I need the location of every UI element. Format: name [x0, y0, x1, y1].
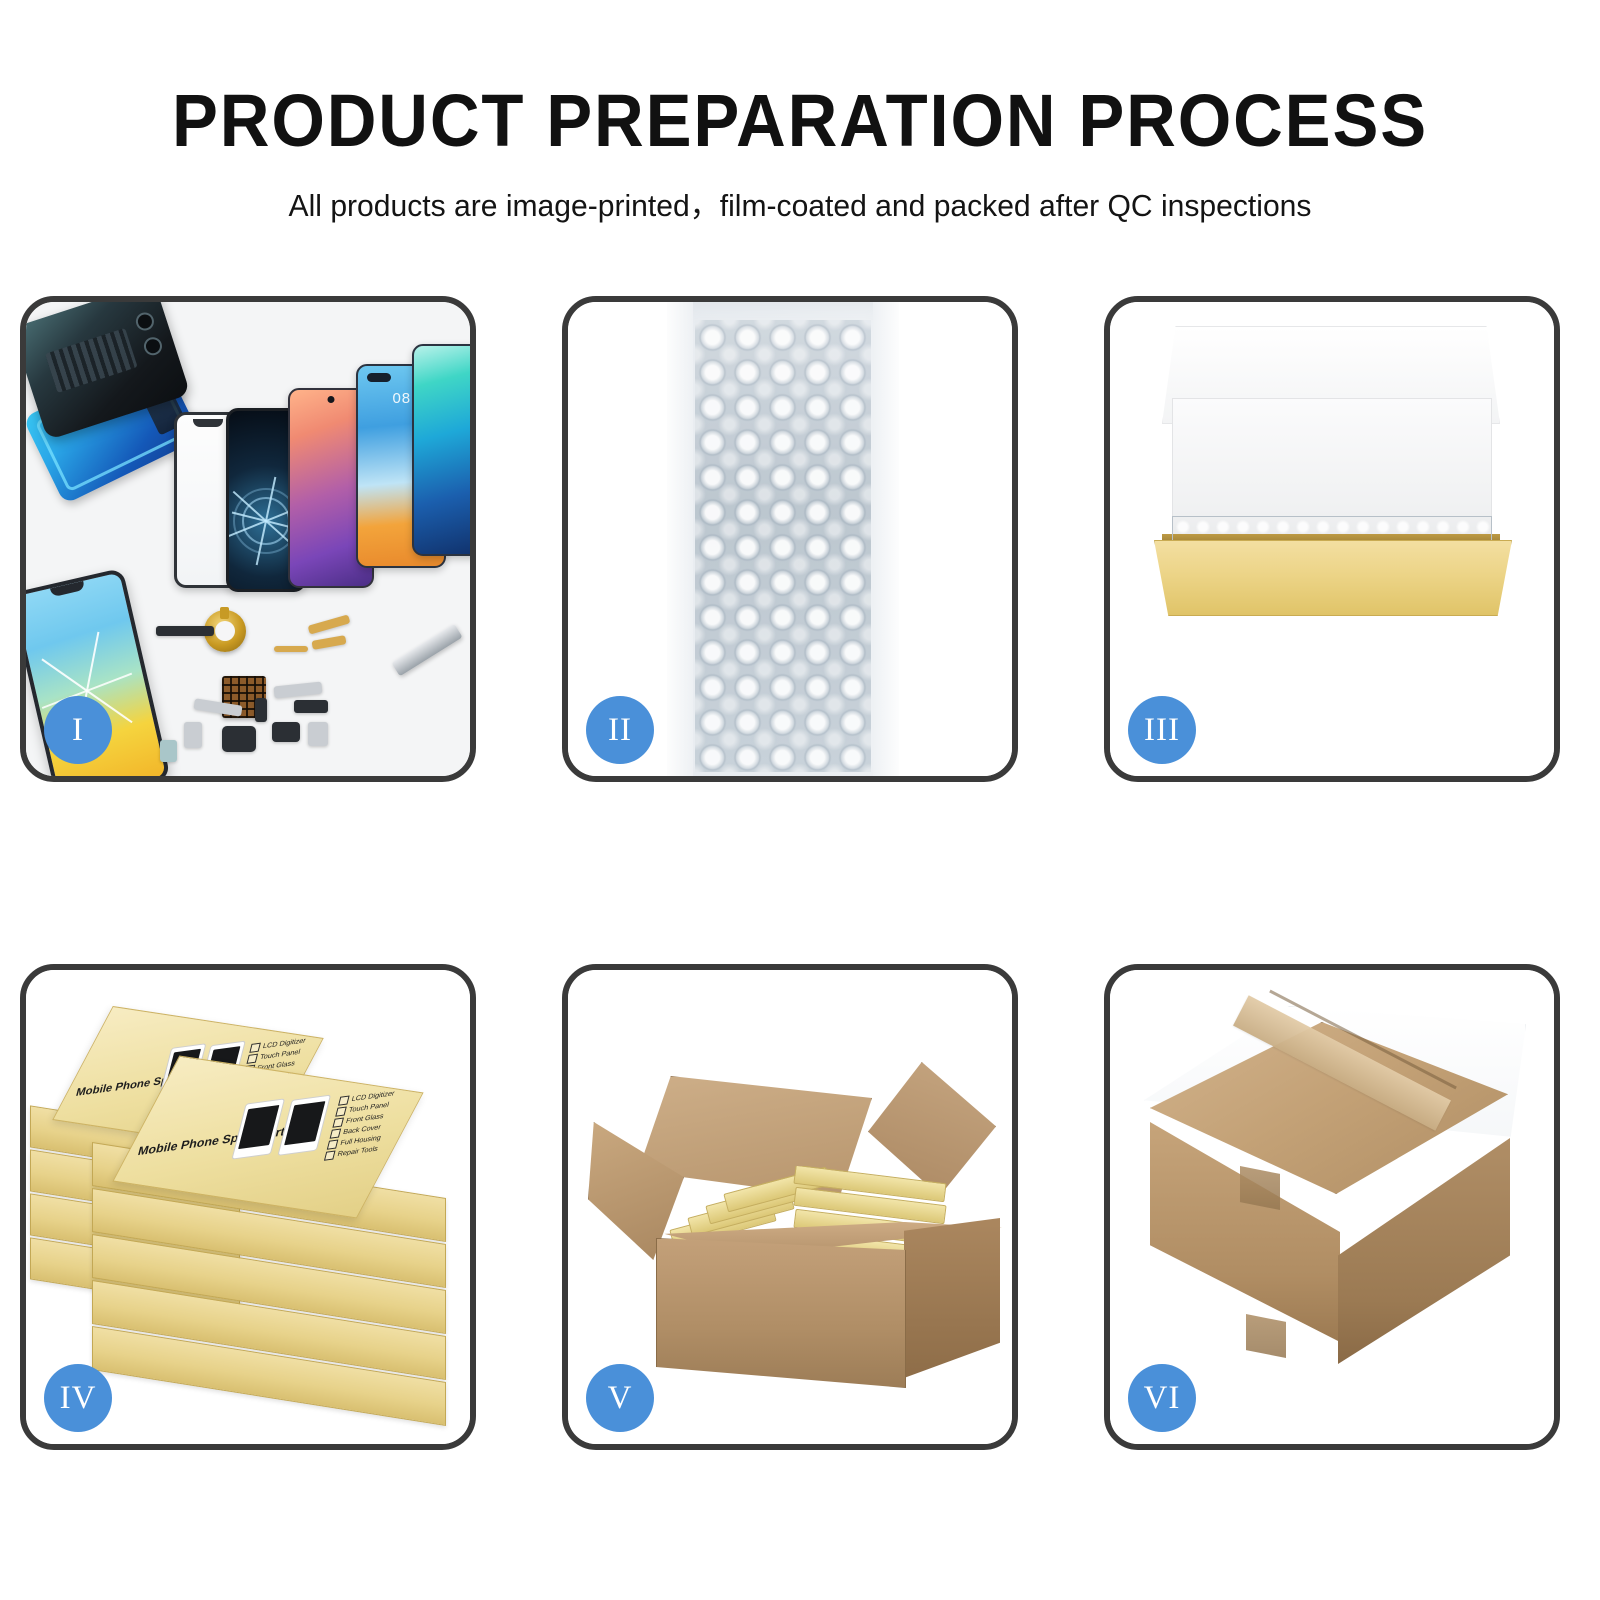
gradient-phone-teal [412, 344, 470, 556]
small-module-part [272, 722, 300, 742]
checkbox-icon [327, 1140, 339, 1150]
step-panel-5: V [562, 964, 1018, 1450]
camera-dot-icon [328, 396, 335, 403]
step-numeral: II [608, 714, 632, 747]
step-panel-6: VI [1104, 964, 1560, 1450]
camera-cutout [134, 310, 157, 333]
punch-hole-camera-icon [367, 373, 391, 382]
checkbox-icon [338, 1096, 350, 1106]
step-badge-5: V [586, 1364, 654, 1432]
step-numeral: V [608, 1382, 633, 1415]
checkbox-icon [324, 1151, 336, 1161]
carton-front-face [656, 1238, 906, 1388]
wrapped-product [695, 320, 871, 772]
carton-side-face [904, 1218, 1000, 1378]
checkbox-icon [246, 1054, 258, 1064]
step-panel-2: II [562, 296, 1018, 782]
speaker-part [308, 722, 328, 746]
flex-cable-part [274, 682, 323, 699]
step-numeral: IV [60, 1382, 97, 1415]
flex-cable-part [308, 614, 351, 634]
repair-tool [391, 624, 462, 677]
phone-notch [50, 581, 85, 597]
step-panel-4: Mobile Phone Spare Parts LCD Digitizer T… [20, 964, 476, 1450]
step-badge-2: II [586, 696, 654, 764]
step-badge-6: VI [1128, 1364, 1196, 1432]
bag-seal-left [667, 302, 693, 776]
box-product-photo [231, 1098, 285, 1159]
glass-notch [193, 419, 223, 427]
carton-tape-tab [1246, 1314, 1286, 1358]
bracket-part [255, 698, 267, 722]
step-panel-1: 08:08 Tue 25 [20, 296, 476, 782]
sim-tray-part [160, 740, 177, 762]
box-checklist: LCD Digitizer Touch Panel Front Glass Ba… [323, 1089, 395, 1162]
bubble-pattern-offset [695, 320, 871, 772]
checkbox-icon [249, 1043, 261, 1053]
checkbox-icon [335, 1107, 347, 1117]
small-module-part [294, 700, 328, 713]
step-badge-4: IV [44, 1364, 112, 1432]
box-product-photo [277, 1095, 331, 1156]
step-badge-3: III [1128, 696, 1196, 764]
camera-cutout [142, 335, 165, 358]
bubble-wrap-bag [667, 302, 899, 776]
step-panel-3: III [1104, 296, 1560, 782]
checkbox-icon [332, 1118, 344, 1128]
infographic-page: PRODUCT PREPARATION PROCESS All products… [0, 0, 1600, 1600]
checkbox-icon [330, 1129, 342, 1139]
step-numeral: III [1144, 714, 1180, 747]
flex-cable-part [274, 646, 308, 652]
earpiece-speaker-part [156, 626, 214, 636]
step-numeral: VI [1144, 1382, 1181, 1415]
step-badge-1: I [44, 696, 112, 764]
bag-seal-right [873, 302, 899, 776]
flex-cable-part [184, 722, 202, 748]
taptic-engine-part [222, 726, 256, 752]
step-numeral: I [72, 714, 84, 747]
flex-cable-part [311, 635, 346, 650]
mailer-box-front [1154, 540, 1512, 616]
process-steps-grid: 08:08 Tue 25 [0, 0, 1600, 1600]
